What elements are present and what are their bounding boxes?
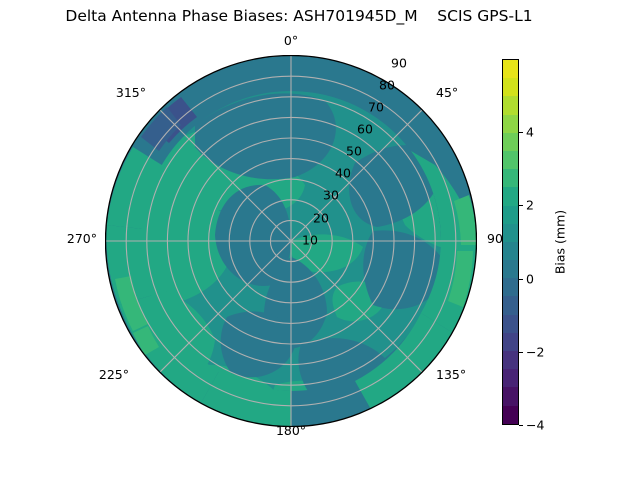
colorbar-ticklabel--2: −2 [526,345,544,360]
colorbar-tick-mark [519,352,523,353]
colorbar-tick-mark [519,279,523,280]
radial-tick-80: 80 [379,78,395,93]
colorbar-band [503,224,518,242]
colorbar-ticklabel--4: −4 [526,418,544,433]
radial-tick-30: 30 [323,188,339,203]
angular-tick-315: 315° [116,85,146,100]
colorbar-ticklabel-2: 2 [526,198,534,213]
colorbar-band [503,187,518,205]
colorbar-band [503,78,518,96]
polar-heatmap [105,55,477,427]
page-title: Delta Antenna Phase Biases: ASH701945D_M… [0,7,598,25]
colorbar-band [503,351,518,369]
radial-tick-50: 50 [346,144,362,159]
colorbar-band [503,96,518,114]
angular-tick-45: 45° [436,85,458,100]
colorbar-band [503,260,518,278]
colorbar-band [503,206,518,224]
radial-tick-20: 20 [313,211,329,226]
colorbar-band [503,60,518,78]
colorbar-gradient [502,59,519,425]
colorbar-band [503,278,518,296]
colorbar-band [503,151,518,169]
colorbar-tick-mark [519,425,523,426]
colorbar-band [503,333,518,351]
colorbar-band [503,406,518,424]
figure-canvas: Delta Antenna Phase Biases: ASH701945D_M… [0,0,640,480]
angular-tick-90: 90 [487,231,503,246]
colorbar-band [503,369,518,387]
colorbar-ticklabel-4: 4 [526,125,534,140]
colorbar-tick-mark [519,132,523,133]
angular-tick-270: 270° [67,231,97,246]
radial-tick-10: 10 [302,233,318,248]
angular-tick-225: 225° [99,367,129,382]
colorbar-band [503,296,518,314]
radial-tick-60: 60 [357,122,373,137]
colorbar-band [503,133,518,151]
radial-tick-40: 40 [335,166,351,181]
colorbar[interactable]: 420−2−4 [502,59,519,425]
colorbar-band [503,115,518,133]
colorbar-ticklabel-0: 0 [526,272,534,287]
colorbar-band [503,169,518,187]
colorbar-band [503,387,518,405]
radial-tick-90: 90 [391,56,407,71]
colorbar-band [503,315,518,333]
polar-plot-axes[interactable]: 0° 45° 90 135° 180° 225° 270° 315° 10203… [105,55,477,427]
angular-gridlines [106,56,476,426]
radial-tick-70: 70 [368,100,384,115]
colorbar-label: Bias (mm) [553,210,568,274]
colorbar-tick-mark [519,205,523,206]
colorbar-band [503,242,518,260]
angular-tick-0: 0° [284,33,298,48]
angular-tick-135: 135° [436,367,466,382]
angular-tick-180: 180° [276,423,306,438]
